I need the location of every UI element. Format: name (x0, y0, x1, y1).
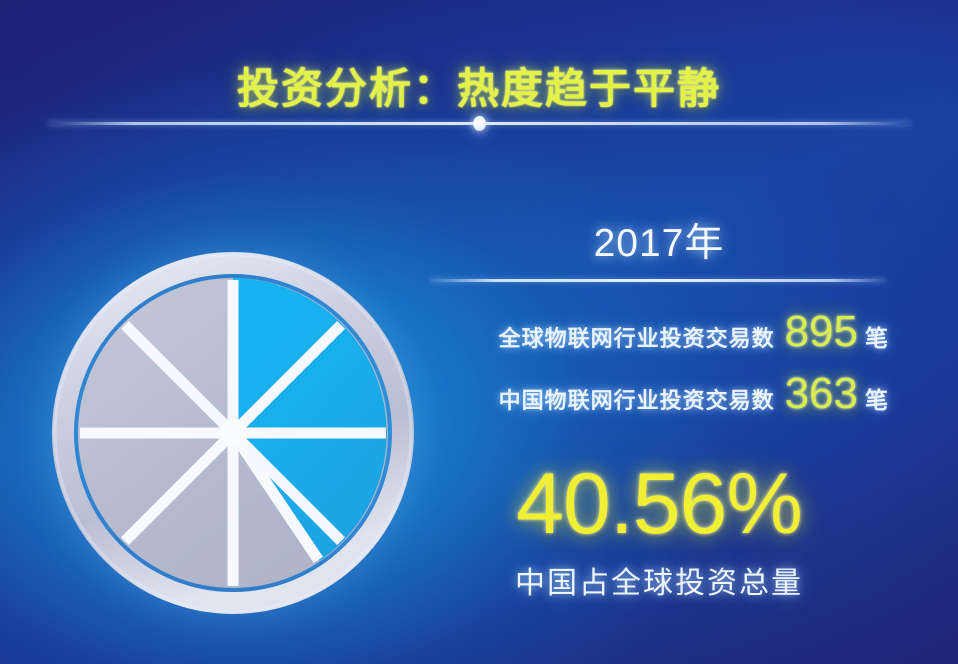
stat-value-china: 363 (785, 369, 858, 419)
stat-unit-global: 笔 (865, 319, 888, 353)
year-label: 2017年 (430, 212, 888, 268)
stat-row: 中国物联网行业投资交易数 363 笔 (430, 369, 888, 419)
pie-chart (52, 252, 414, 614)
title-divider-dot-icon (473, 116, 486, 131)
headline-percentage: 40.56% (430, 455, 888, 554)
stat-value-global: 895 (785, 307, 858, 357)
infographic-slide: 投资分析：热度趋于平静 (0, 0, 958, 664)
stat-label-china: 中国物联网行业投资交易数 (499, 383, 775, 415)
pie-center-hub (220, 420, 246, 446)
year-divider (430, 279, 886, 282)
page-title: 投资分析：热度趋于平静 (0, 55, 958, 116)
stat-unit-china: 笔 (865, 381, 888, 415)
headline-caption: 中国占全球投资总量 (430, 558, 888, 602)
stat-label-global: 全球物联网行业投资交易数 (499, 321, 775, 353)
stat-row: 全球物联网行业投资交易数 895 笔 (430, 307, 888, 357)
